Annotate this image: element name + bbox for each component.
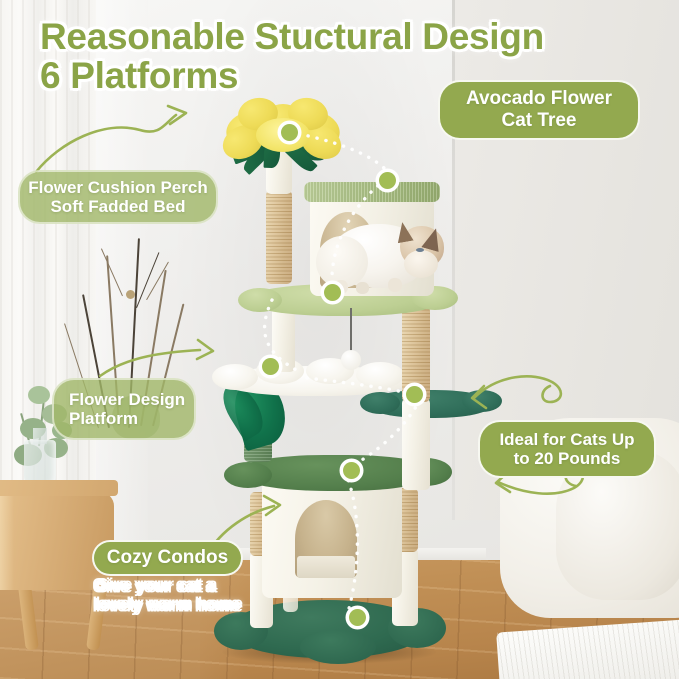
badge-pounds-line-2: to 20 Pounds [514, 449, 621, 468]
marker-dot-teal [406, 386, 423, 403]
badge-cushion-line-1: Flower Cushion Perch [28, 178, 207, 197]
pom-pom-toy [341, 350, 361, 370]
marker-dot-mid-platform [324, 284, 341, 301]
badge-weight-capacity: Ideal for Cats Up to 20 Pounds [478, 420, 656, 478]
subcaption-line-2: lovely warm home [94, 595, 294, 614]
toy-string [350, 308, 352, 352]
marker-dot-base [349, 609, 366, 626]
badge-avocado-line-1: Avocado Flower [466, 88, 612, 110]
product-infographic: Reasonable Stuctural Design 6 Platforms … [0, 0, 679, 679]
badge-condos-line-1: Cozy Condos [107, 547, 228, 569]
marker-dot-flower [281, 124, 298, 141]
badge-platform-line-1: Flower Design [69, 390, 185, 409]
condo-upper-roof [304, 182, 440, 202]
marker-dot-condo-roof [379, 172, 396, 189]
badge-platform-line-2: Platform [69, 409, 138, 428]
marker-dot-white-flower [262, 358, 279, 375]
headline-line-1: Reasonable Stuctural Design [40, 16, 544, 57]
subcaption-line-1: Give your cat a [94, 576, 294, 595]
badge-cozy-condos: Cozy Condos [92, 540, 243, 576]
badge-flower-design-platform: Flower Design Platform [52, 378, 196, 440]
badge-avocado-flower-cat-tree: Avocado Flower Cat Tree [438, 80, 640, 140]
post-right-plush [402, 398, 430, 490]
badge-pounds-line-1: Ideal for Cats Up [499, 430, 634, 449]
subcaption-cozy-condos: Give your cat a lovely warm home [94, 576, 294, 614]
post-top-sisal [266, 190, 292, 284]
badge-flower-cushion-perch: Flower Cushion Perch Soft Fadded Bed [18, 170, 218, 224]
marker-dot-green-platform [343, 462, 360, 479]
badge-avocado-line-2: Cat Tree [502, 110, 577, 132]
badge-cushion-line-2: Soft Fadded Bed [50, 197, 185, 216]
